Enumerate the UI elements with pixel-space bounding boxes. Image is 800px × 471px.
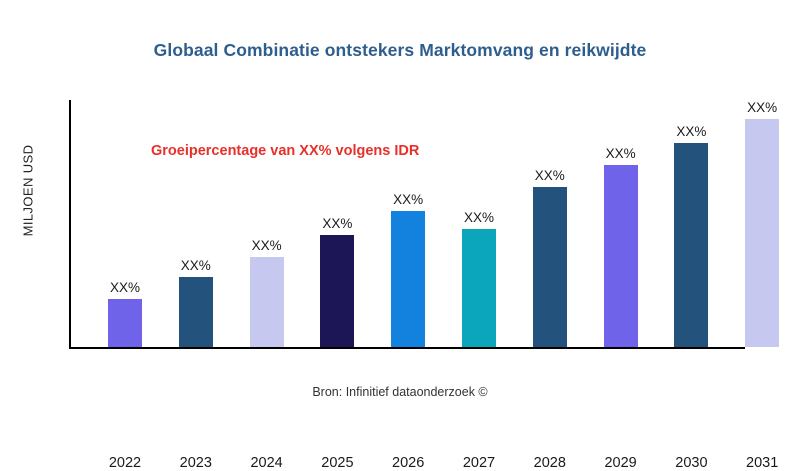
bar-2023[interactable]: XX% xyxy=(179,277,213,347)
bar-rect[interactable] xyxy=(604,165,638,347)
x-tick-2022: 2022 xyxy=(92,455,158,471)
chart-container: Globaal Combinatie ontstekers Marktomvan… xyxy=(0,0,800,450)
x-tick-2027: 2027 xyxy=(446,455,512,471)
bar-2030[interactable]: XX% xyxy=(674,143,708,347)
bar-value-label: XX% xyxy=(588,146,654,161)
bar-rect[interactable] xyxy=(108,299,142,347)
x-tick-2028: 2028 xyxy=(517,455,583,471)
growth-rate-annotation: Groeipercentage van XX% volgens IDR xyxy=(151,143,419,159)
bar-rect[interactable] xyxy=(745,119,779,347)
bar-value-label: XX% xyxy=(375,192,441,207)
bar-2026[interactable]: XX% xyxy=(391,211,425,347)
x-tick-2024: 2024 xyxy=(234,455,300,471)
bar-rect[interactable] xyxy=(250,257,284,347)
x-tick-2029: 2029 xyxy=(588,455,654,471)
bar-rect[interactable] xyxy=(462,229,496,347)
bar-value-label: XX% xyxy=(304,216,370,231)
x-tick-2030: 2030 xyxy=(658,455,724,471)
source-note: Bron: Infinitief dataonderzoek © xyxy=(0,385,800,399)
x-tick-2026: 2026 xyxy=(375,455,441,471)
bar-value-label: XX% xyxy=(163,258,229,273)
bar-2028[interactable]: XX% xyxy=(533,187,567,347)
bar-value-label: XX% xyxy=(658,124,724,139)
x-tick-2025: 2025 xyxy=(304,455,370,471)
plot-area: XX%XX%XX%XX%XX%XX%XX%XX%XX%XX% 202220232… xyxy=(69,100,745,349)
bar-2024[interactable]: XX% xyxy=(250,257,284,347)
bar-value-label: XX% xyxy=(517,168,583,183)
y-axis-title: MILJOEN USD xyxy=(21,101,36,281)
y-axis-line xyxy=(69,100,71,349)
x-tick-2031: 2031 xyxy=(729,455,795,471)
bar-rect[interactable] xyxy=(533,187,567,347)
bar-2022[interactable]: XX% xyxy=(108,299,142,347)
bar-rect[interactable] xyxy=(320,235,354,347)
bar-2027[interactable]: XX% xyxy=(462,229,496,347)
x-axis-line xyxy=(69,347,745,349)
bar-2029[interactable]: XX% xyxy=(604,165,638,347)
bar-2025[interactable]: XX% xyxy=(320,235,354,347)
chart-title: Globaal Combinatie ontstekers Marktomvan… xyxy=(0,40,800,61)
bar-rect[interactable] xyxy=(179,277,213,347)
x-tick-2023: 2023 xyxy=(163,455,229,471)
bar-rect[interactable] xyxy=(674,143,708,347)
bar-rect[interactable] xyxy=(391,211,425,347)
bar-value-label: XX% xyxy=(234,238,300,253)
bar-value-label: XX% xyxy=(446,210,512,225)
bar-value-label: XX% xyxy=(729,100,795,115)
bar-value-label: XX% xyxy=(92,280,158,295)
bar-2031[interactable]: XX% xyxy=(745,119,779,347)
